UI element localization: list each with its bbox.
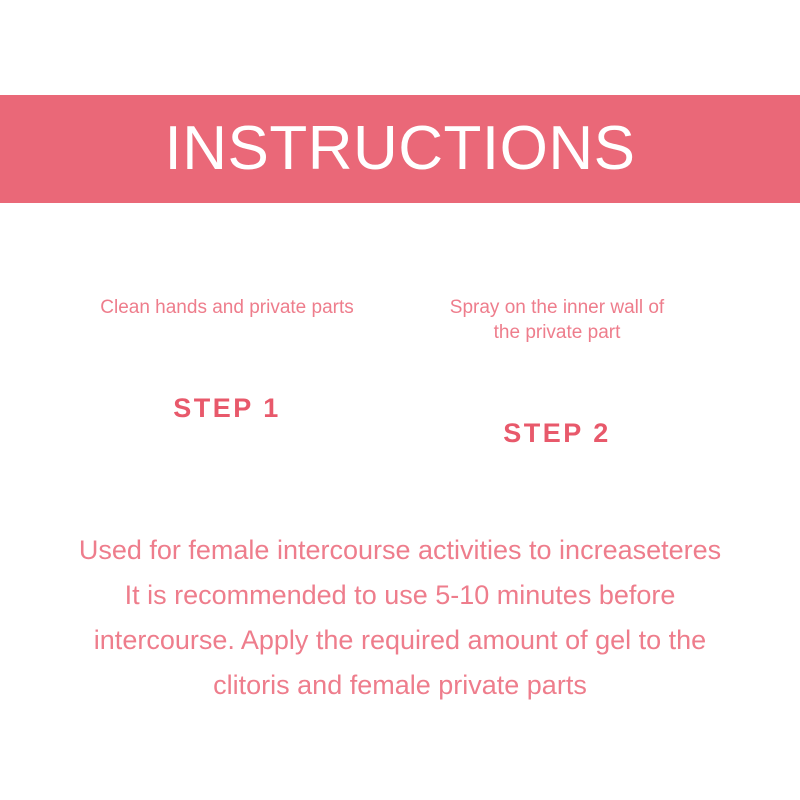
- steps-row: Clean hands and private parts STEP 1 Spr…: [0, 295, 800, 447]
- body-line-2: It is recommended to use 5-10 minutes be…: [0, 573, 800, 618]
- step-2-caption-line-1: Spray on the inner wall of: [450, 297, 664, 318]
- step-2-caption-line-2: the private part: [494, 322, 621, 343]
- step-1-label: STEP 1: [173, 320, 281, 422]
- step-2-caption: Spray on the inner wall ofthe private pa…: [450, 295, 664, 345]
- body-line-1: Used for female intercourse activities t…: [0, 528, 800, 573]
- page-title: INSTRUCTIONS: [165, 118, 636, 180]
- body-line-4: clitoris and female private parts: [0, 663, 800, 708]
- title-banner: INSTRUCTIONS: [0, 95, 800, 203]
- step-2-label: STEP 2: [503, 345, 611, 447]
- body-line-3: intercourse. Apply the required amount o…: [0, 618, 800, 663]
- step-column-1: Clean hands and private parts STEP 1: [0, 295, 400, 447]
- body-paragraph: Used for female intercourse activities t…: [0, 528, 800, 708]
- instructions-page: INSTRUCTIONS Clean hands and private par…: [0, 0, 800, 800]
- step-column-2: Spray on the inner wall ofthe private pa…: [400, 295, 800, 447]
- step-1-caption: Clean hands and private parts: [100, 295, 354, 320]
